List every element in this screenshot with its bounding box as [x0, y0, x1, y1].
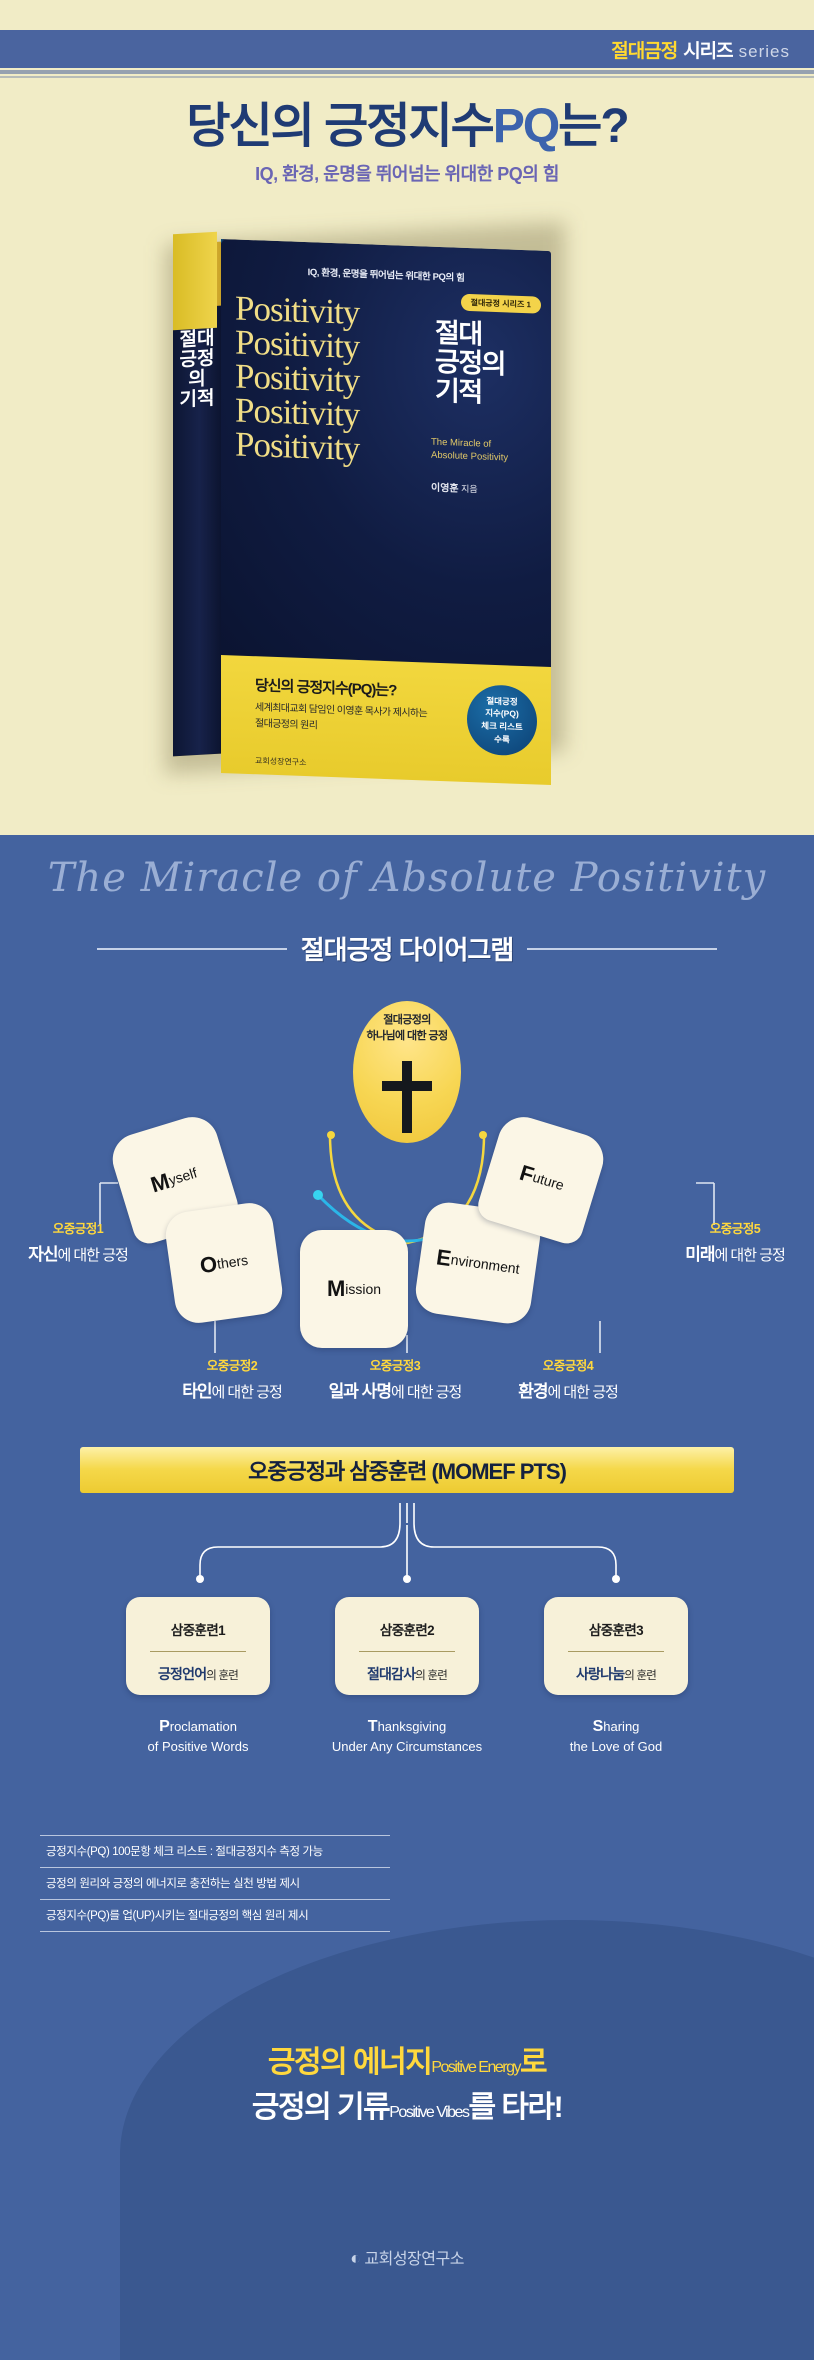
- training-en-1-line2: of Positive Words: [93, 1738, 303, 1757]
- training-en-3-rest: haring: [603, 1719, 639, 1734]
- book-author-suffix: 지음: [461, 484, 478, 495]
- headline-pq: PQ: [493, 100, 558, 153]
- book-band-spine: [173, 232, 217, 330]
- book-band-question: 당신의 긍정지수(PQ)는?: [255, 674, 396, 700]
- slogan1-b: 로: [520, 2046, 546, 2079]
- label-ojung-1: 오중긍정1 자신에 대한 긍정: [8, 1218, 148, 1265]
- training-en-1-line1: Proclamation: [93, 1715, 303, 1738]
- training-card-2-divider: [359, 1651, 455, 1652]
- cross-icon: [402, 1061, 412, 1133]
- training-card-1-body: 긍정언어의 훈련: [126, 1664, 270, 1684]
- training-card-1-title: 삼중훈련1: [126, 1619, 270, 1639]
- footer-slogan-line2: 긍정의 기류Positive Vibes를 타라!: [0, 2085, 814, 2130]
- training-card-2-body: 절대감사의 훈련: [335, 1664, 479, 1684]
- label-ojung-5-bold: 미래: [685, 1245, 714, 1264]
- series-label-en: series: [739, 42, 790, 62]
- center-sun-text: 절대긍정의 하나님에 대한 긍정: [353, 1013, 461, 1045]
- training-card-1-divider: [150, 1651, 246, 1652]
- training-en-3-initial: S: [593, 1718, 604, 1735]
- series-rule-thin: [0, 76, 814, 78]
- training-card-2-bold: 절대감사: [367, 1666, 415, 1682]
- book-band-publisher: 교회성장연구소: [255, 755, 307, 768]
- label-ojung-3-num: 오중긍정3: [300, 1355, 490, 1374]
- training-card-3-rest: 의 훈련: [624, 1670, 656, 1682]
- label-ojung-3: 오중긍정3 일과 사명에 대한 긍정: [300, 1355, 490, 1402]
- bullet-item: 긍정의 원리와 긍정의 에너지로 충전하는 실천 방법 제시: [40, 1867, 390, 1899]
- series-rule-thick: [0, 70, 814, 74]
- book-author-name: 이영훈: [431, 483, 459, 495]
- bullet-item: 긍정지수(PQ)를 업(UP)시키는 절대긍정의 핵심 원리 제시: [40, 1899, 390, 1932]
- label-ojung-1-text: 자신에 대한 긍정: [8, 1240, 148, 1265]
- slogan1-a: 긍정의 에너지: [268, 2046, 431, 2079]
- feature-bullet-list: 긍정지수(PQ) 100문항 체크 리스트 : 절대긍정지수 측정 가능 긍정의…: [40, 1835, 390, 1932]
- training-card-2-title: 삼중훈련2: [335, 1619, 479, 1639]
- footer-slogan-line1: 긍정의 에너지Positive Energy로: [0, 2040, 814, 2085]
- training-en-2-line1: Thanksgiving: [302, 1715, 512, 1738]
- book-positivity-stack: Positivity Positivity Positivity Positiv…: [235, 291, 445, 468]
- page-title: 당신의 긍정지수PQ는?: [0, 86, 814, 156]
- book-front-tagline: IQ, 환경, 운명을 뛰어넘는 위대한 PQ의 힘: [221, 261, 551, 287]
- label-ojung-2: 오중긍정2 타인에 대한 긍정: [152, 1355, 312, 1402]
- logo-icon: ◐: [350, 2248, 360, 2268]
- training-card-3[interactable]: 삼중훈련3 사랑나눔의 훈련: [544, 1597, 688, 1695]
- training-en-3-line2: the Love of God: [511, 1738, 721, 1757]
- diagram-rule-right: [527, 948, 717, 950]
- book-author: 이영훈 지음: [431, 479, 543, 498]
- training-card-2[interactable]: 삼중훈련2 절대감사의 훈련: [335, 1597, 479, 1695]
- page-subtitle: IQ, 환경, 운명을 뛰어넘는 위대한 PQ의 힘: [0, 160, 814, 186]
- label-ojung-2-rest: 에 대한 긍정: [211, 1384, 281, 1401]
- slogan2-b: 를 타라!: [468, 2091, 562, 2124]
- book-front-series-badge: 절대긍정 시리즈 1: [461, 294, 541, 314]
- label-ojung-1-bold: 자신: [28, 1245, 57, 1264]
- book-front-title-kr: 절대 긍정의 기적: [435, 319, 543, 410]
- training-en-3-line1: Sharing: [511, 1715, 721, 1738]
- petal-mission-rest: ission: [345, 1281, 381, 1297]
- script-title: The Miracle of Absolute Positivity: [0, 855, 814, 901]
- training-en-3: Sharing the Love of God: [511, 1715, 721, 1757]
- slogan2-a: 긍정의 기류: [252, 2091, 389, 2124]
- headline-pre: 당신의 긍정지수: [186, 100, 492, 153]
- training-card-3-bold: 사랑나눔: [576, 1666, 624, 1682]
- petal-mission-initial: M: [327, 1276, 345, 1302]
- petal-others[interactable]: Others: [163, 1200, 286, 1326]
- training-en-1-initial: P: [159, 1718, 170, 1735]
- training-card-1-rest: 의 훈련: [206, 1670, 238, 1682]
- diagram-rule-left: [97, 948, 287, 950]
- diagram-title-row: 절대긍정 다이어그램: [0, 930, 814, 967]
- training-en-2-line2: Under Any Circumstances: [302, 1738, 512, 1757]
- label-ojung-2-bold: 타인: [182, 1382, 211, 1401]
- center-line-2: 하나님에 대한 긍정: [353, 1029, 461, 1045]
- label-ojung-2-num: 오중긍정2: [152, 1355, 312, 1374]
- label-ojung-3-text: 일과 사명에 대한 긍정: [300, 1377, 490, 1402]
- momef-banner: 오중긍정과 삼중훈련 (MOMEF PTS): [80, 1447, 734, 1493]
- label-ojung-3-bold: 일과 사명: [329, 1382, 391, 1401]
- label-ojung-2-text: 타인에 대한 긍정: [152, 1377, 312, 1402]
- label-ojung-1-num: 오중긍정1: [8, 1218, 148, 1237]
- book-cover-mockup: 절대 긍정 시리즈 1 절대 긍정의 기적 IQ, 환경, 운명을 뛰어넘는 위…: [165, 215, 585, 775]
- main-blue-section: The Miracle of Absolute Positivity 절대긍정 …: [0, 835, 814, 2360]
- series-label-kr2: 시리즈: [683, 36, 732, 63]
- label-ojung-5-rest: 에 대한 긍정: [714, 1247, 784, 1264]
- headline-post: 는?: [558, 100, 627, 153]
- label-ojung-5: 오중긍정5 미래에 대한 긍정: [664, 1218, 806, 1265]
- series-ribbon-inner: 절대금정 시리즈 series: [611, 36, 814, 63]
- diagram-title: 절대긍정 다이어그램: [301, 930, 514, 967]
- training-card-3-body: 사랑나눔의 훈련: [544, 1664, 688, 1684]
- training-card-3-divider: [568, 1651, 664, 1652]
- petal-others-rest: thers: [216, 1252, 249, 1272]
- label-ojung-5-num: 오중긍정5: [664, 1218, 806, 1237]
- positivity-line: Positivity: [235, 427, 445, 469]
- bottom-wave-shape: [120, 1920, 814, 2360]
- label-ojung-3-rest: 에 대한 긍정: [391, 1384, 461, 1401]
- training-en-1-rest: roclamation: [170, 1719, 237, 1734]
- label-ojung-1-rest: 에 대한 긍정: [57, 1247, 127, 1264]
- label-ojung-4-text: 환경에 대한 긍정: [488, 1377, 648, 1402]
- label-ojung-5-text: 미래에 대한 긍정: [664, 1240, 806, 1265]
- training-en-1: Proclamation of Positive Words: [93, 1715, 303, 1757]
- bullet-item: 긍정지수(PQ) 100문항 체크 리스트 : 절대긍정지수 측정 가능: [40, 1835, 390, 1867]
- center-sun: 절대긍정의 하나님에 대한 긍정: [353, 1001, 461, 1143]
- footer-logo: ◐ 교회성장연구소: [0, 2245, 814, 2269]
- training-card-2-rest: 의 훈련: [415, 1670, 447, 1682]
- training-en-2-initial: T: [368, 1718, 378, 1735]
- series-ribbon: 절대금정 시리즈 series: [0, 30, 814, 68]
- footer-logo-text: 교회성장연구소: [364, 2251, 464, 2268]
- petal-myself-rest: yself: [167, 1164, 199, 1188]
- book-band-badge: 절대긍정 지수(PQ) 체크 리스트 수록: [467, 684, 537, 757]
- training-card-1[interactable]: 삼중훈련1 긍정언어의 훈련: [126, 1597, 270, 1695]
- center-line-1: 절대긍정의: [353, 1013, 461, 1029]
- book-spine-title: 절대 긍정의 기적: [177, 329, 217, 411]
- slogan1-en: Positive Energy: [431, 2059, 520, 2076]
- petal-environment-rest: nvironment: [450, 1251, 521, 1276]
- petal-mission[interactable]: Mission: [300, 1230, 408, 1348]
- training-en-2-rest: hanksgiving: [378, 1719, 447, 1734]
- top-cream-section: 절대금정 시리즈 series 당신의 긍정지수PQ는? IQ, 환경, 운명을…: [0, 0, 814, 835]
- label-ojung-4-bold: 환경: [518, 1382, 547, 1401]
- label-ojung-4-num: 오중긍정4: [488, 1355, 648, 1374]
- book-band-subtext: 세계최대교회 담임인 이영훈 목사가 제시하는 절대긍정의 원리: [255, 700, 435, 738]
- footer-slogan: 긍정의 에너지Positive Energy로 긍정의 기류Positive V…: [0, 2040, 814, 2130]
- petal-future-rest: uture: [531, 1169, 566, 1194]
- label-ojung-4: 오중긍정4 환경에 대한 긍정: [488, 1355, 648, 1402]
- training-en-2: Thanksgiving Under Any Circumstances: [302, 1715, 512, 1757]
- slogan2-en: Positive Vibes: [389, 2104, 468, 2121]
- series-label-kr: 절대금정: [611, 36, 677, 63]
- label-ojung-4-rest: 에 대한 긍정: [547, 1384, 617, 1401]
- book-front-subtitle-en: The Miracle of Absolute Positivity: [431, 437, 543, 467]
- training-card-3-title: 삼중훈련3: [544, 1619, 688, 1639]
- cross-icon-bar: [382, 1081, 432, 1091]
- book-obi-band: 당신의 긍정지수(PQ)는? 세계최대교회 담임인 이영훈 목사가 제시하는 절…: [221, 655, 551, 785]
- training-card-1-bold: 긍정언어: [158, 1666, 206, 1682]
